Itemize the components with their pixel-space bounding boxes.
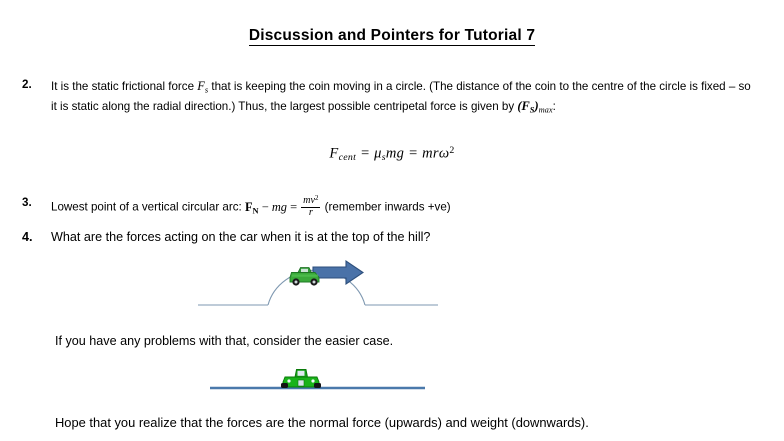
list-number-3: 3. [22, 196, 32, 209]
document-page: Discussion and Pointers for Tutorial 7 2… [0, 0, 784, 441]
car-front-view [281, 370, 321, 389]
paragraph-hope: Hope that you realize that the forces ar… [55, 415, 589, 430]
eq-mr: mr [422, 145, 439, 161]
item3-text-part2: (remember inwards +ve) [321, 201, 450, 214]
eq-omega: ω [439, 145, 450, 161]
list-number-2: 2. [22, 78, 32, 91]
list-number-4: 4. [22, 230, 33, 244]
eq-mu: μ [374, 145, 382, 161]
eq-equals-2: = [404, 145, 422, 161]
page-title-text: Discussion and Pointers for Tutorial 7 [249, 27, 535, 46]
eq-F: F [329, 145, 338, 161]
car-wheel-right [314, 383, 321, 388]
item3-text-part1: Lowest point of a vertical circular arc: [51, 201, 245, 214]
page-title: Discussion and Pointers for Tutorial 7 [0, 27, 784, 45]
item2-text-part3: : [553, 100, 556, 113]
eq-omega-sup: 2 [449, 145, 454, 156]
item2-math-FSmax: (FS)max [517, 99, 552, 113]
car-on-hill-diagram [195, 258, 445, 320]
eq-mg: mg [386, 145, 404, 161]
list-item-2-text: It is the static frictional force Fs tha… [51, 78, 758, 119]
list-item-3-text: Lowest point of a vertical circular arc:… [51, 196, 751, 219]
item3-equation: FN − mg = mv2r [245, 200, 322, 214]
car-on-flat-ground-diagram [195, 364, 445, 394]
eq-equals-1: = [356, 145, 374, 161]
equation-centripetal: Fcent = μsmg = mrω2 [0, 145, 784, 163]
eq-F-sub: cent [339, 152, 357, 163]
fraction-mv2-over-r: mv2r [301, 195, 320, 218]
velocity-arrow [313, 261, 363, 284]
item2-text-part1: It is the static frictional force [51, 80, 197, 93]
item2-math-Fs: Fs [197, 79, 208, 93]
paragraph-easier-case: If you have any problems with that, cons… [55, 334, 393, 348]
car-wheel-left [281, 383, 288, 388]
list-item-4-text: What are the forces acting on the car wh… [51, 229, 751, 246]
